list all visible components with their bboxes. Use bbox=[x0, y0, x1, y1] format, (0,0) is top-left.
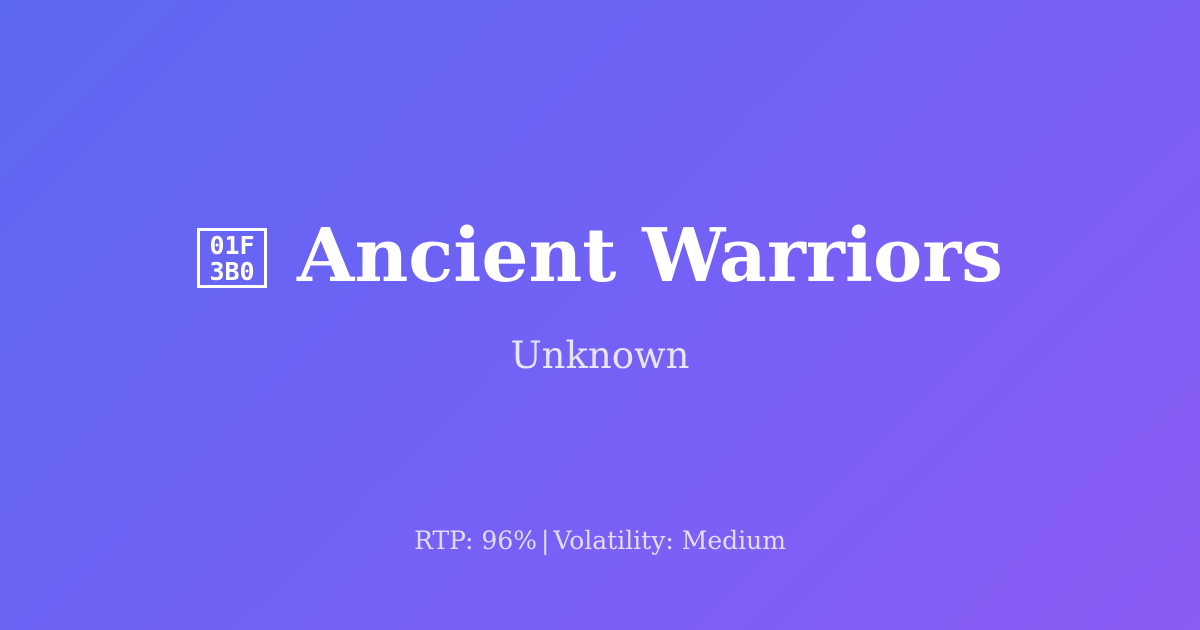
codepoint-hex-top: 01F bbox=[209, 233, 254, 259]
volatility-value: Volatility: Medium bbox=[553, 526, 785, 555]
slot-machine-emoji-icon: 01F 3B0 bbox=[197, 228, 267, 288]
card-hero: 01F 3B0 Ancient Warriors Unknown bbox=[0, 206, 1200, 378]
title-row: 01F 3B0 Ancient Warriors bbox=[197, 206, 1003, 306]
codepoint-hex-bottom: 3B0 bbox=[209, 259, 254, 285]
rtp-value: RTP: 96% bbox=[414, 526, 537, 555]
card-meta-line: RTP: 96%|Volatility: Medium bbox=[0, 526, 1200, 556]
meta-separator: | bbox=[537, 526, 553, 555]
card-subtitle: Unknown bbox=[510, 334, 689, 378]
page-title: Ancient Warriors bbox=[297, 214, 1003, 298]
game-preview-card: 01F 3B0 Ancient Warriors Unknown RTP: 96… bbox=[0, 0, 1200, 630]
